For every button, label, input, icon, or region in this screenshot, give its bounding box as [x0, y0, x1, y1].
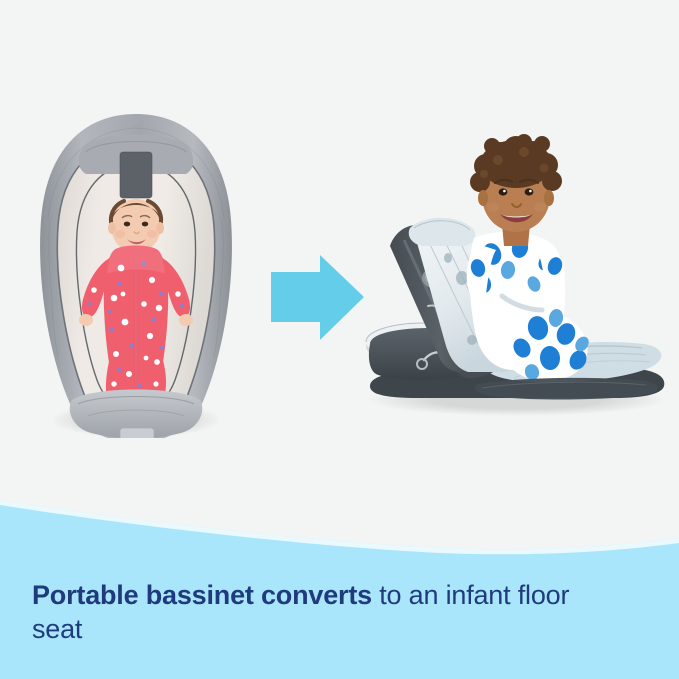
baby-in-floor-seat	[467, 134, 592, 382]
baby2-eye-right	[525, 188, 534, 195]
baby1-hand-right	[179, 314, 193, 326]
bassinet-head-tab	[120, 152, 152, 198]
baby2-eye-left	[499, 188, 508, 195]
floor-seat-illustration	[352, 128, 674, 420]
caption-text: Portable bassinet converts to an infant …	[32, 578, 572, 646]
baby1-eye-right	[142, 222, 148, 227]
bassinet-illustration	[28, 108, 244, 438]
baby1-head	[111, 199, 161, 253]
baby1-hand-left	[79, 314, 93, 326]
bassinet-latch-tab	[120, 428, 154, 438]
floor-seat-front-lip	[474, 378, 658, 400]
product-floor-seat	[352, 128, 674, 420]
feature-image-stage: Portable bassinet converts to an infant …	[0, 0, 679, 679]
baby1-eye-left	[124, 222, 130, 227]
caption-bold: Portable bassinet converts	[32, 580, 372, 610]
baby2-hair	[470, 134, 562, 192]
floor-seat-headrest	[409, 218, 476, 246]
product-bassinet	[28, 108, 244, 438]
